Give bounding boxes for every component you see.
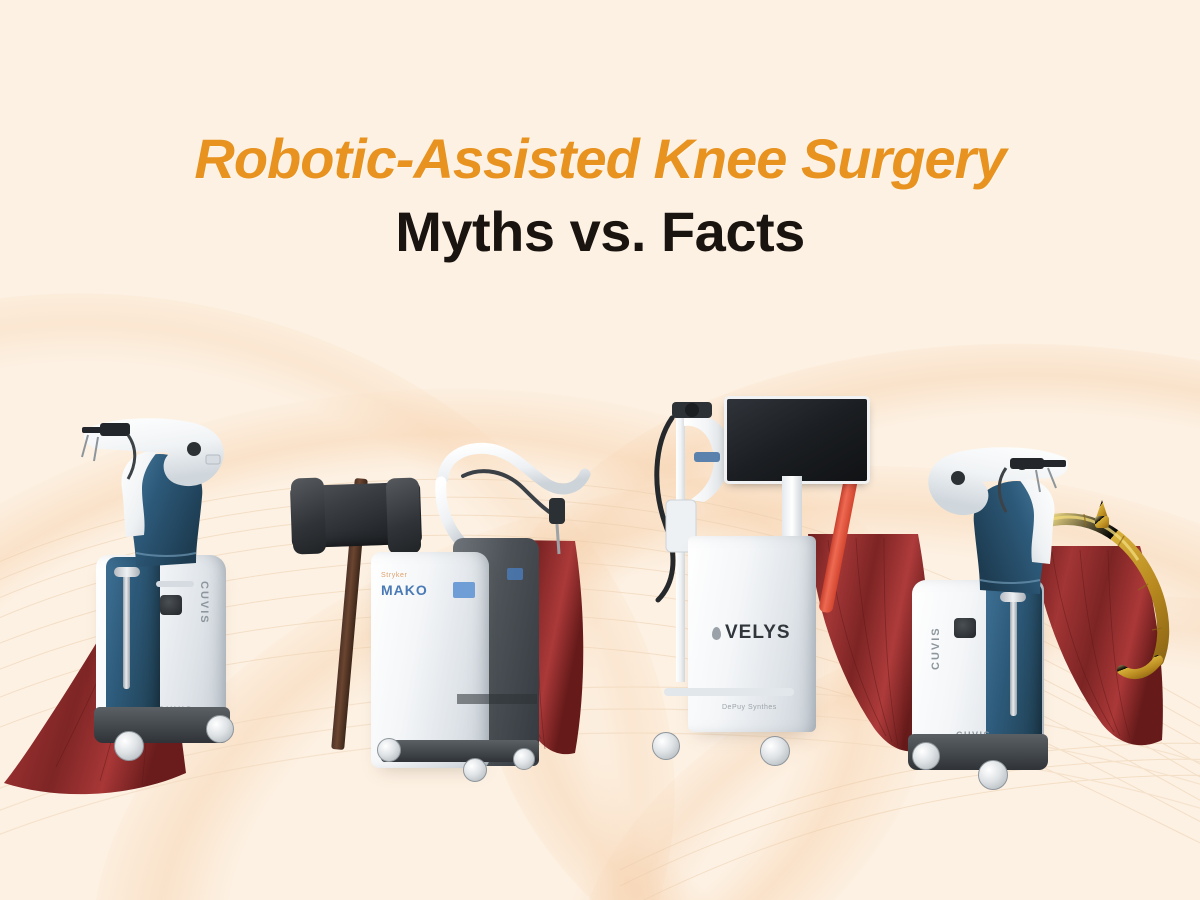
velys-monitor-screen xyxy=(724,396,870,484)
device-cuvis-left: CUVIS CUVIS xyxy=(10,405,310,795)
velys-brand-label: VELYS xyxy=(725,622,791,644)
velys-wheel xyxy=(760,736,790,766)
robot-handle-rail xyxy=(123,571,130,689)
headline-block: Robotic-Assisted Knee Surgery Myths vs. … xyxy=(0,130,1200,262)
mako-brand-label: MAKO xyxy=(381,582,428,598)
velys-base-rail xyxy=(664,688,794,696)
mako-wheel xyxy=(463,758,487,782)
device-mako: Stryker MAKO xyxy=(285,440,615,790)
mako-status-light xyxy=(507,568,523,580)
mallet-head-cap-left xyxy=(291,477,327,554)
robot-port-panel xyxy=(160,595,182,615)
page-subtitle: Myths vs. Facts xyxy=(0,203,1200,262)
robot-port-panel xyxy=(954,618,976,638)
velys-brand-logo: VELYS xyxy=(712,622,791,644)
robot-wheel xyxy=(206,715,234,743)
device-brand-label: CUVIS xyxy=(930,626,942,670)
device-velys: VELYS DePuy Synthes xyxy=(630,388,930,788)
robot-arm xyxy=(42,405,262,505)
mako-indicator-panel xyxy=(453,582,475,598)
mallet-head-cap-right xyxy=(386,477,422,554)
mako-wheel xyxy=(513,748,535,770)
poster-canvas: Robotic-Assisted Knee Surgery Myths vs. … xyxy=(0,0,1200,900)
robot-wheel xyxy=(978,760,1008,790)
velys-footer-label: DePuy Synthes xyxy=(722,704,777,711)
device-cuvis-right: CUVIS CUVIS xyxy=(900,430,1200,800)
robot-wheel xyxy=(912,742,940,770)
velys-wheel xyxy=(652,732,680,760)
robot-wheel xyxy=(114,731,144,761)
velys-logo-mark xyxy=(712,627,721,640)
mako-sublabel: Stryker xyxy=(381,572,441,580)
device-brand-label: CUVIS xyxy=(198,581,210,625)
mako-wheel xyxy=(377,738,401,762)
page-title: Robotic-Assisted Knee Surgery xyxy=(0,130,1200,189)
mako-seam xyxy=(457,694,537,704)
robot-arm xyxy=(890,434,1110,534)
robot-handle-rail xyxy=(1010,596,1017,716)
